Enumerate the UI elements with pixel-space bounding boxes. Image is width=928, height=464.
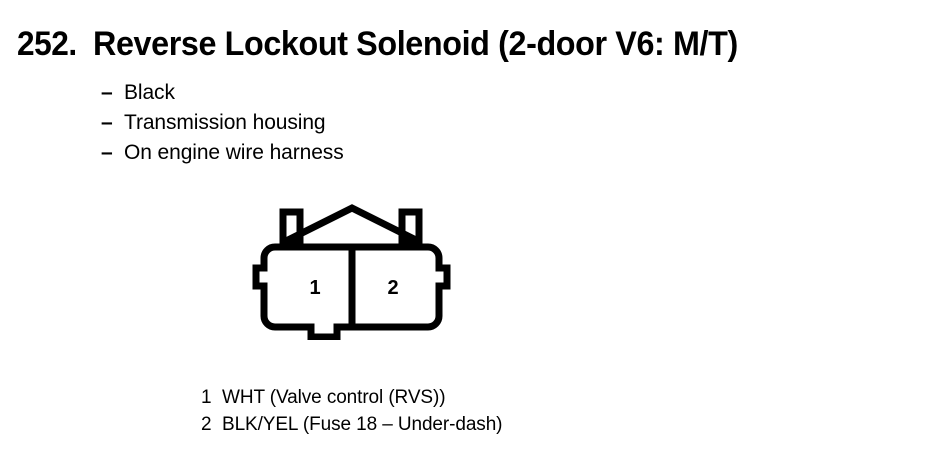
legend-pin-number-1: 1 [201,384,222,411]
legend-row: 2 BLK/YEL (Fuse 18 – Under-dash) [201,411,801,438]
pin-number-1: 1 [309,277,320,299]
item-number: 252. [17,25,77,64]
list-item: – On engine wire harness [101,138,531,168]
attribute-label-color: Black [124,78,175,108]
page-title-text: Reverse Lockout Solenoid (2-door V6: M/T… [93,25,738,64]
pin-legend: 1 WHT (Valve control (RVS)) 2 BLK/YEL (F… [201,384,801,438]
attribute-label-harness: On engine wire harness [124,138,344,168]
dash-bullet-icon: – [101,138,124,168]
list-item: – Transmission housing [101,108,531,138]
list-item: – Black [101,78,531,108]
attribute-list: – Black – Transmission housing – On engi… [101,78,531,168]
page-title: 252. Reverse Lockout Solenoid (2-door V6… [17,25,917,67]
dash-bullet-icon: – [101,78,124,108]
legend-pin-description-1: WHT (Valve control (RVS)) [222,384,445,411]
dash-bullet-icon: – [101,108,124,138]
attribute-label-location: Transmission housing [124,108,325,138]
pin-number-2: 2 [387,277,398,299]
legend-pin-number-2: 2 [201,411,222,438]
connector-diagram: 1 2 [245,198,457,340]
legend-row: 1 WHT (Valve control (RVS)) [201,384,801,411]
legend-pin-description-2: BLK/YEL (Fuse 18 – Under-dash) [222,411,502,438]
connector-outline-icon: 1 2 [245,198,457,340]
